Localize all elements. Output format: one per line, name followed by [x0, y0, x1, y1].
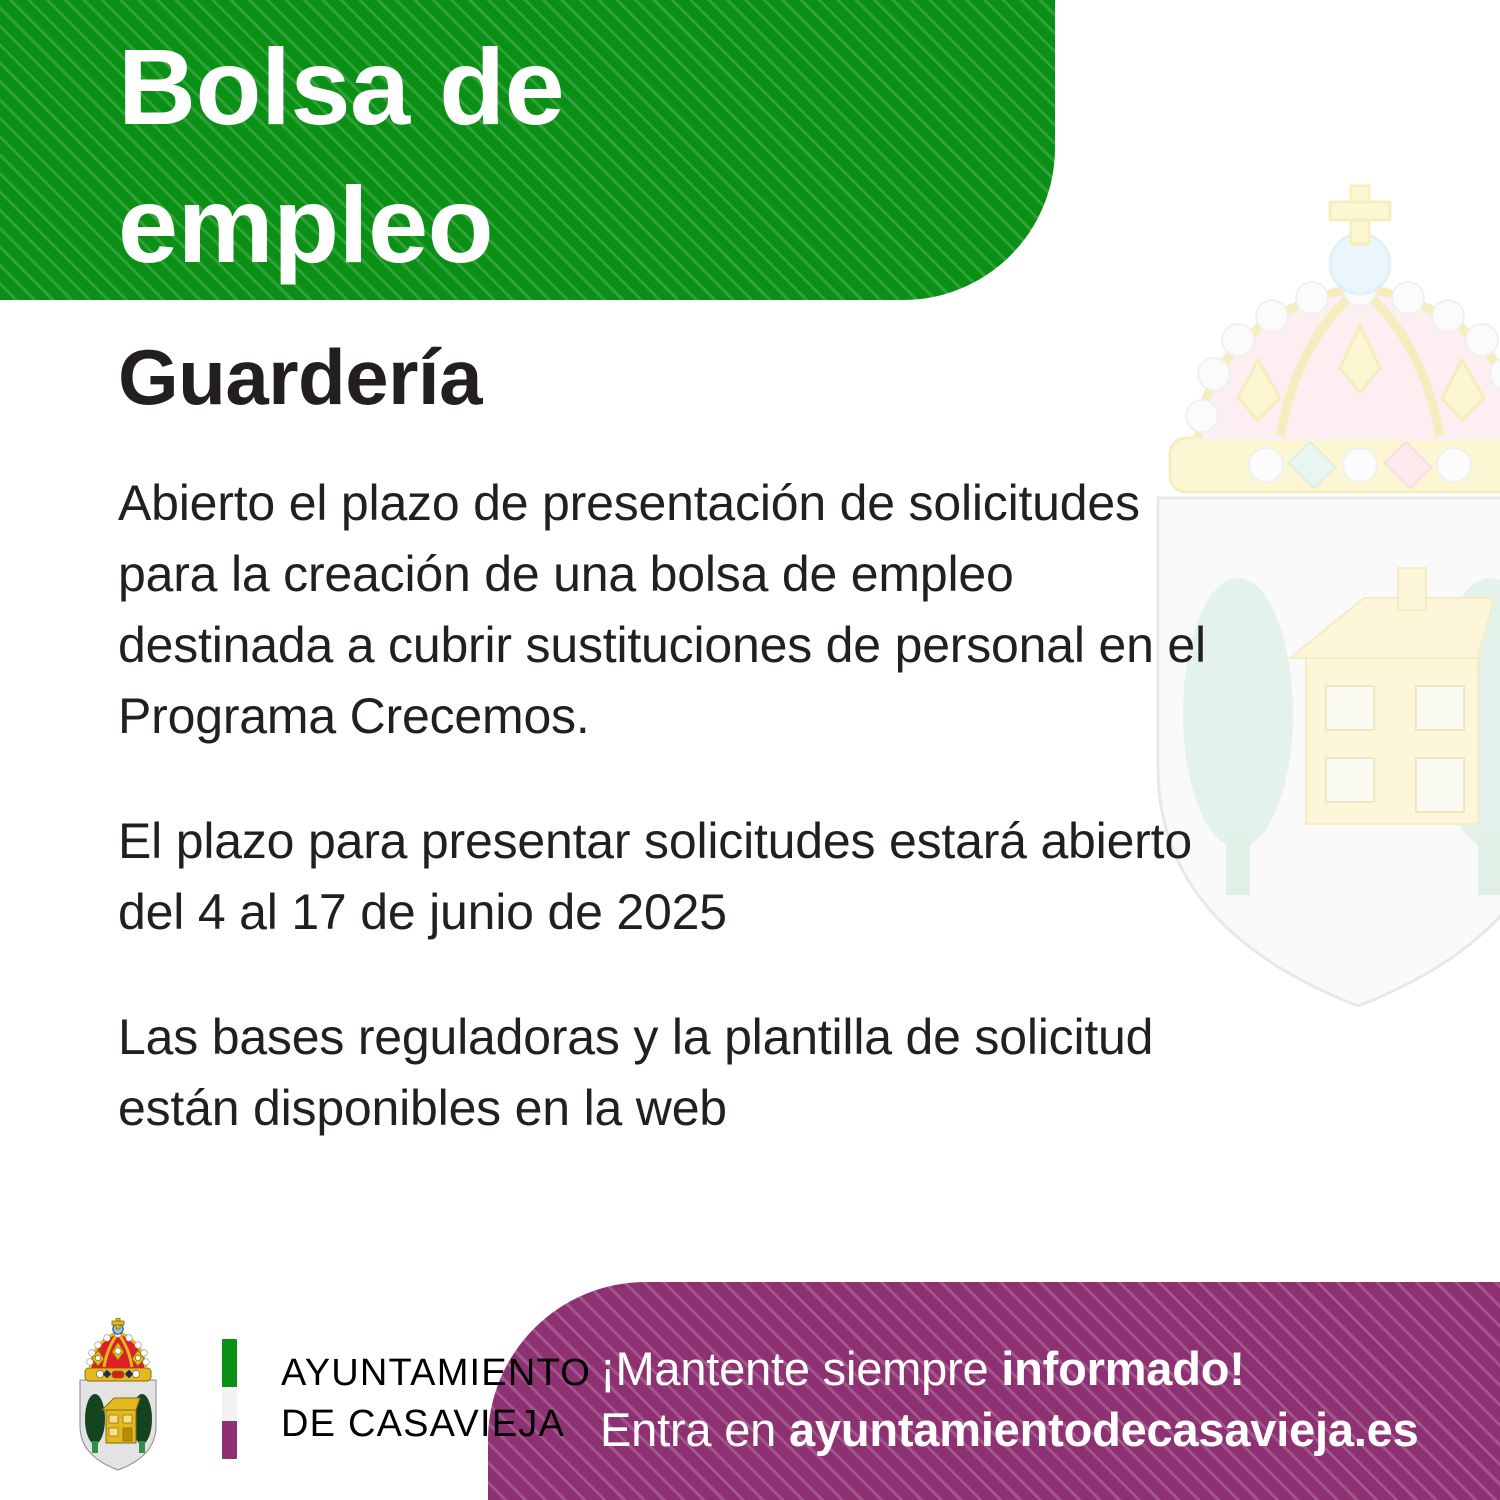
flag-stripe-white: [222, 1387, 237, 1421]
ayuntamiento-logo-lockup: AYUNTAMIENTO DE CASAVIEJA: [62, 1318, 591, 1480]
header-banner: Bolsa de empleo: [0, 0, 1055, 300]
body-paragraph-1: Abierto el plazo de presentación de soli…: [118, 468, 1238, 752]
job-position-title: Guardería: [118, 338, 1238, 416]
body-paragraph-3: Las bases reguladoras y la plantilla de …: [118, 1002, 1238, 1144]
footer-banner-line-1: ¡Mantente siempre informado!: [600, 1338, 1419, 1399]
body-paragraph-2: El plazo para presentar solicitudes esta…: [118, 806, 1238, 948]
main-content: Guardería Abierto el plazo de presentaci…: [118, 338, 1238, 1144]
website-url-link[interactable]: ayuntamientodecasavieja.es: [789, 1403, 1419, 1456]
casavieja-coat-of-arms-icon: [62, 1318, 174, 1480]
footer-banner-line-2: Entra en ayuntamientodecasavieja.es: [600, 1399, 1419, 1460]
flag-color-divider: [222, 1339, 237, 1459]
flag-stripe-purple: [222, 1421, 237, 1459]
footer-banner-text: ¡Mantente siempre informado! Entra en ay…: [600, 1338, 1419, 1460]
footer-banner: ¡Mantente siempre informado! Entra en ay…: [488, 1282, 1500, 1500]
footer-line2-prefix: Entra en: [600, 1403, 789, 1456]
organization-name: AYUNTAMIENTO DE CASAVIEJA: [281, 1348, 591, 1450]
footer-line1-prefix: ¡Mantente siempre: [600, 1342, 1001, 1395]
page-title: Bolsa de empleo: [118, 18, 938, 294]
poster-canvas: Bolsa de empleo Guardería Abierto el pla…: [0, 0, 1500, 1500]
footer-line1-emphasis: informado!: [1001, 1342, 1244, 1395]
flag-stripe-green: [222, 1339, 237, 1387]
